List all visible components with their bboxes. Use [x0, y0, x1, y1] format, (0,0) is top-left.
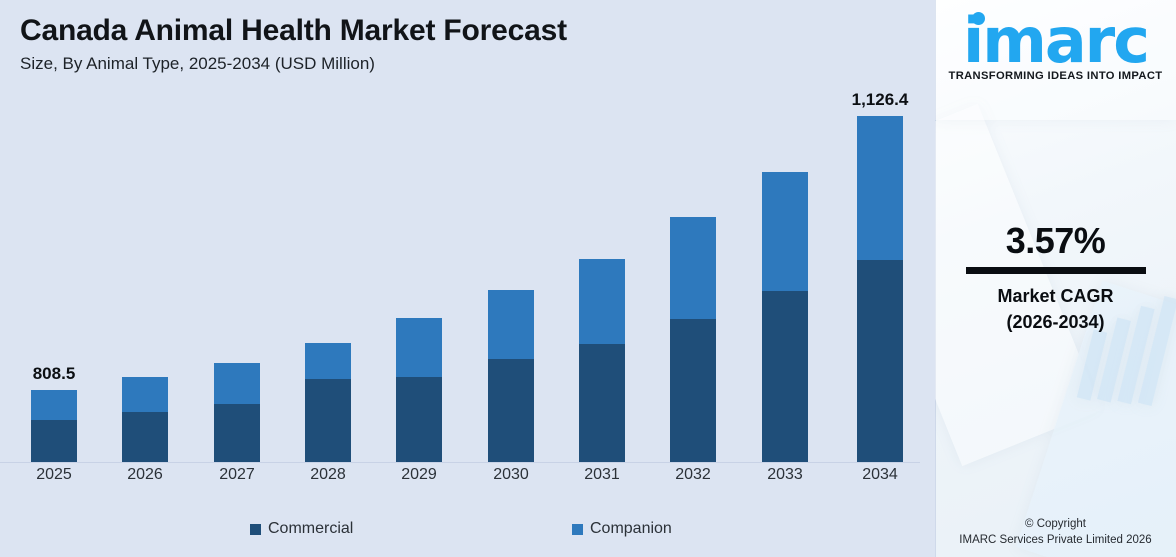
x-axis-tick-2027: 2027	[214, 466, 260, 484]
chart-legend: CommercialCompanion	[0, 520, 935, 550]
bar-segment-commercial[interactable]	[762, 291, 808, 462]
copyright-line-2: IMARC Services Private Limited 2026	[935, 532, 1176, 549]
bar-segment-companion[interactable]	[488, 290, 534, 359]
axis-baseline	[0, 462, 920, 463]
bar-group[interactable]	[305, 343, 351, 462]
bar-group[interactable]: 808.5	[31, 390, 77, 462]
x-axis-tick-2026: 2026	[122, 466, 168, 484]
copyright-notice: © Copyright IMARC Services Private Limit…	[935, 516, 1176, 549]
x-axis-tick-2033: 2033	[762, 466, 808, 484]
brand-panel: imarc TRANSFORMING IDEAS INTO IMPACT 3.5…	[935, 0, 1176, 557]
bar-segment-companion[interactable]	[305, 343, 351, 379]
legend-label: Companion	[590, 520, 672, 538]
bar-segment-companion[interactable]	[670, 217, 716, 319]
bar-group[interactable]	[579, 259, 625, 462]
bar-segment-companion[interactable]	[214, 363, 260, 404]
bar-value-label: 808.5	[33, 364, 76, 384]
plot-area: 808.51,126.4	[0, 100, 935, 463]
legend-label: Commercial	[268, 520, 353, 538]
logo-mark: imarc	[963, 8, 1148, 74]
bar-group[interactable]	[396, 318, 442, 462]
bar-segment-companion[interactable]	[579, 259, 625, 344]
x-axis-tick-2030: 2030	[488, 466, 534, 484]
cagr-callout: 3.57% Market CAGR (2026-2034)	[935, 222, 1176, 335]
x-axis-tick-2032: 2032	[670, 466, 716, 484]
bar-segment-commercial[interactable]	[579, 344, 625, 462]
cagr-value: 3.57%	[935, 222, 1176, 260]
bar-group[interactable]	[670, 217, 716, 462]
bar-segment-companion[interactable]	[762, 172, 808, 291]
bar-segment-commercial[interactable]	[488, 359, 534, 462]
logo-dot-icon	[972, 12, 985, 25]
bar-group[interactable]	[214, 363, 260, 462]
page-title: Canada Animal Health Market Forecast	[20, 14, 567, 48]
bar-group[interactable]: 1,126.4	[857, 116, 903, 462]
bar-segment-commercial[interactable]	[857, 260, 903, 462]
x-axis-tick-2029: 2029	[396, 466, 442, 484]
x-axis-tick-2034: 2034	[857, 466, 903, 484]
bar-segment-commercial[interactable]	[305, 379, 351, 462]
bar-segment-commercial[interactable]	[122, 412, 168, 462]
legend-item-companion[interactable]: Companion	[572, 520, 672, 538]
x-axis-labels: 2025202620272028202920302031203220332034	[0, 466, 935, 496]
bar-value-label: 1,126.4	[852, 90, 909, 110]
bar-segment-commercial[interactable]	[214, 404, 260, 462]
cagr-caption: Market CAGR	[935, 283, 1176, 309]
x-axis-tick-2031: 2031	[579, 466, 625, 484]
cagr-rule	[966, 267, 1146, 274]
bar-segment-commercial[interactable]	[396, 377, 442, 462]
bar-segment-commercial[interactable]	[670, 319, 716, 462]
bar-group[interactable]	[762, 172, 808, 462]
bar-series-layer: 808.51,126.4	[0, 100, 935, 462]
bar-segment-companion[interactable]	[857, 116, 903, 260]
copyright-line-1: © Copyright	[935, 516, 1176, 533]
legend-item-commercial[interactable]: Commercial	[250, 520, 353, 538]
infographic-root: Canada Animal Health Market Forecast Siz…	[0, 0, 1176, 557]
chart-panel: Canada Animal Health Market Forecast Siz…	[0, 0, 935, 557]
chart-header: Canada Animal Health Market Forecast Siz…	[20, 14, 567, 73]
bar-segment-companion[interactable]	[31, 390, 77, 420]
bar-segment-companion[interactable]	[396, 318, 442, 377]
logo-wordmark: imarc	[963, 4, 1148, 77]
bar-segment-companion[interactable]	[122, 377, 168, 412]
bar-segment-commercial[interactable]	[31, 420, 77, 462]
bar-group[interactable]	[488, 290, 534, 462]
cagr-period: (2026-2034)	[935, 309, 1176, 335]
bar-group[interactable]	[122, 377, 168, 462]
chart-subtitle: Size, By Animal Type, 2025-2034 (USD Mil…	[20, 54, 567, 74]
x-axis-tick-2025: 2025	[31, 466, 77, 484]
x-axis-tick-2028: 2028	[305, 466, 351, 484]
legend-swatch-icon	[572, 524, 583, 535]
imarc-logo: imarc TRANSFORMING IDEAS INTO IMPACT	[935, 8, 1176, 82]
legend-swatch-icon	[250, 524, 261, 535]
